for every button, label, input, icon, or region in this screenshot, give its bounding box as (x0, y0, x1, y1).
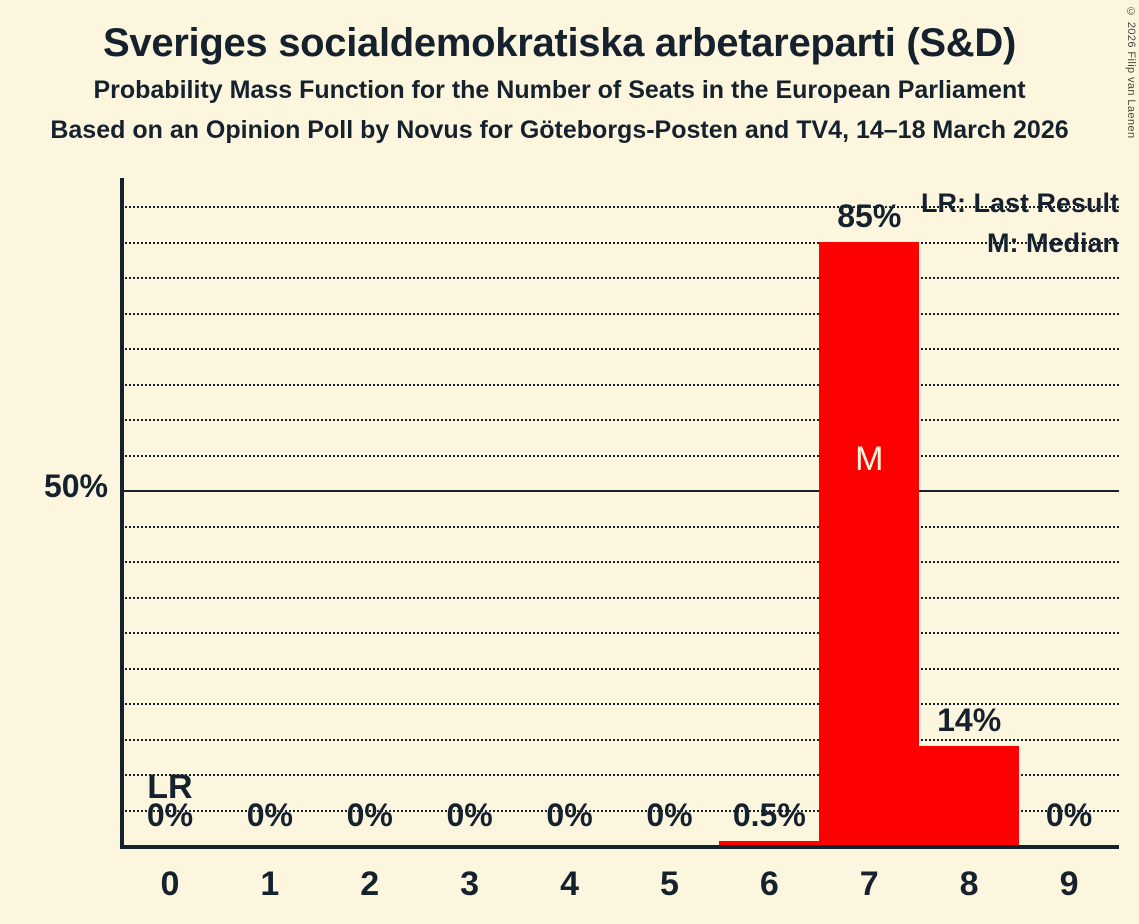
gridline-70 (120, 348, 1119, 350)
chart-subtitle: Probability Mass Function for the Number… (0, 64, 1119, 103)
gridline-60 (120, 419, 1119, 421)
bar-value-label-8: 14% (919, 702, 1019, 739)
x-tick-label-0: 0 (120, 865, 220, 904)
x-tick-label-2: 2 (320, 865, 420, 904)
page-title: Sveriges socialdemokratiska arbetarepart… (0, 0, 1119, 64)
x-tick-label-9: 9 (1019, 865, 1119, 904)
gridline-75 (120, 313, 1119, 315)
gridline-major-50 (120, 490, 1119, 492)
bar-value-label-0: 0% (120, 797, 220, 834)
x-tick-label-4: 4 (520, 865, 620, 904)
bar-seat-8[interactable] (919, 746, 1019, 845)
gridline-35 (120, 597, 1119, 599)
bar-seat-6[interactable] (719, 841, 819, 845)
x-tick-label-7: 7 (819, 865, 919, 904)
gridline-40 (120, 561, 1119, 563)
bar-value-label-5: 0% (620, 797, 720, 834)
bar-value-label-3: 0% (420, 797, 520, 834)
title-block: Sveriges socialdemokratiska arbetarepart… (0, 0, 1119, 144)
gridline-65 (120, 384, 1119, 386)
y-tick-label-50: 50% (0, 468, 108, 505)
bar-value-label-4: 0% (520, 797, 620, 834)
bar-value-label-7: 85% (819, 198, 919, 235)
x-axis-line (120, 845, 1119, 849)
bar-value-label-2: 0% (320, 797, 420, 834)
x-tick-label-8: 8 (919, 865, 1019, 904)
gridline-55 (120, 455, 1119, 457)
bar-value-label-9: 0% (1019, 797, 1119, 834)
bar-value-label-1: 0% (220, 797, 320, 834)
median-marker: M (819, 440, 919, 479)
x-tick-label-6: 6 (719, 865, 819, 904)
copyright-notice: © 2026 Filip van Laenen (1125, 6, 1137, 139)
legend: LR: Last Result M: Median (921, 184, 1119, 264)
bar-value-label-6: 0.5% (719, 797, 819, 834)
legend-item-last-result: LR: Last Result (921, 184, 1119, 224)
bar-seat-7[interactable]: M (819, 242, 919, 846)
gridline-25 (120, 668, 1119, 670)
x-tick-label-1: 1 (220, 865, 320, 904)
x-tick-label-3: 3 (420, 865, 520, 904)
gridline-15 (120, 739, 1119, 741)
gridline-45 (120, 526, 1119, 528)
gridline-80 (120, 277, 1119, 279)
gridline-30 (120, 632, 1119, 634)
legend-item-median: M: Median (921, 224, 1119, 264)
x-tick-label-5: 5 (620, 865, 720, 904)
